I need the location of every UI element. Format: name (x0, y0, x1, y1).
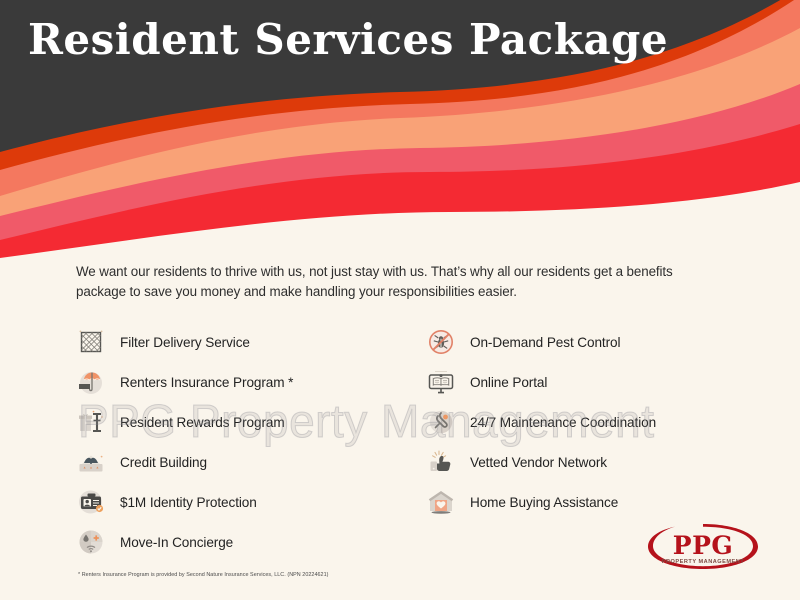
id-briefcase-icon (76, 487, 106, 517)
benefit-label: Online Portal (470, 375, 547, 390)
benefit-item-credit-building[interactable]: Credit Building (76, 442, 416, 482)
benefit-label: On-Demand Pest Control (470, 335, 620, 350)
benefit-item-renters-insurance-program[interactable]: Renters Insurance Program * (76, 362, 416, 402)
footnote-disclaimer: * Renters Insurance Program is provided … (78, 571, 329, 580)
benefit-item-pest-control[interactable]: On-Demand Pest Control (426, 322, 776, 362)
home-heart-icon (426, 487, 456, 517)
benefit-item-home-buying-assistance[interactable]: Home Buying Assistance (426, 482, 776, 522)
benefit-item-identity-protection[interactable]: $1M Identity Protection (76, 482, 416, 522)
air-filter-icon (76, 327, 106, 357)
thumbs-up-icon (426, 447, 456, 477)
no-pest-icon (426, 327, 456, 357)
benefits-right-column: On-Demand Pest Control Online Por (426, 322, 776, 522)
move-in-wifi-icon (76, 527, 106, 557)
benefit-label: Home Buying Assistance (470, 495, 618, 510)
benefit-item-maintenance-coordination[interactable]: 24/7 Maintenance Coordination (426, 402, 776, 442)
monitor-portal-icon (426, 367, 456, 397)
resident-services-flyer: Resident Services Package We want our re… (0, 0, 800, 600)
benefits-left-column: Filter Delivery Service Renters Insuranc… (76, 322, 416, 562)
logo-mark: PPG (673, 531, 733, 560)
benefit-label: Filter Delivery Service (120, 335, 250, 350)
gift-reward-icon (76, 407, 106, 437)
page-title: Resident Services Package (28, 14, 668, 66)
ppg-logo[interactable]: PPG PROPERTY MANAGEMENT (642, 518, 764, 586)
benefit-item-vetted-vendor-network[interactable]: Vetted Vendor Network (426, 442, 776, 482)
benefit-item-online-portal[interactable]: Online Portal (426, 362, 776, 402)
benefit-item-filter-delivery-service[interactable]: Filter Delivery Service (76, 322, 416, 362)
benefit-label: Vetted Vendor Network (470, 455, 607, 470)
benefit-item-resident-rewards-program[interactable]: Resident Rewards Program (76, 402, 416, 442)
benefit-label: 24/7 Maintenance Coordination (470, 415, 656, 430)
benefit-label: Renters Insurance Program * (120, 375, 293, 390)
benefit-label: Credit Building (120, 455, 207, 470)
benefit-label: Move-In Concierge (120, 535, 233, 550)
maintenance-tools-icon (426, 407, 456, 437)
umbrella-shield-icon (76, 367, 106, 397)
intro-paragraph: We want our residents to thrive with us,… (76, 262, 724, 302)
benefit-item-move-in-concierge[interactable]: Move-In Concierge (76, 522, 416, 562)
credit-score-icon (76, 447, 106, 477)
benefit-label: Resident Rewards Program (120, 415, 285, 430)
logo-tagline: PROPERTY MANAGEMENT (662, 559, 745, 565)
benefit-label: $1M Identity Protection (120, 495, 257, 510)
